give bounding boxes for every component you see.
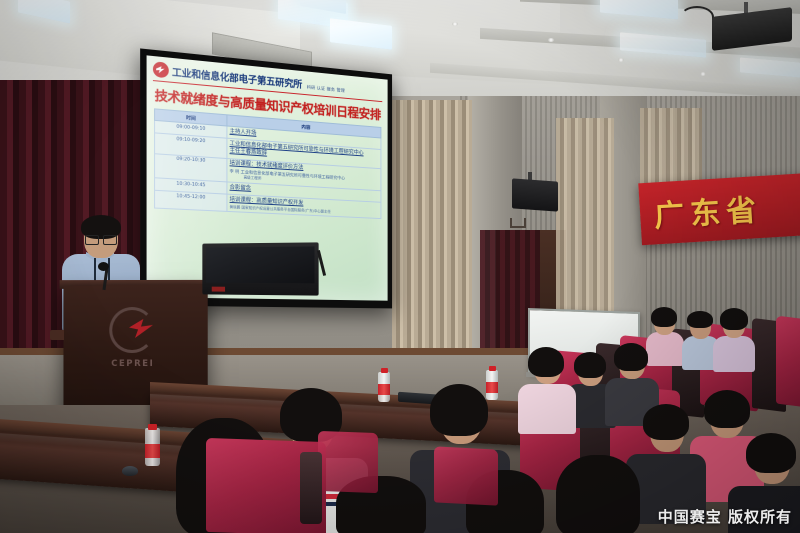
ceiling-downlight <box>452 22 458 26</box>
cell-time: 10:45-12:00 <box>155 190 227 211</box>
bottle-cap <box>148 424 157 430</box>
ceprei-circle <box>109 307 155 353</box>
monitor-indicator <box>212 287 225 292</box>
attendee-hair <box>430 384 488 436</box>
presenter-glasses <box>85 235 117 243</box>
attendee-hair <box>704 390 750 428</box>
attendee-hair <box>643 404 689 440</box>
slide-org-sub: 科研 认证 服务 管理 <box>307 84 345 94</box>
seat-armrest <box>300 452 322 524</box>
attendee <box>684 314 716 362</box>
attendee-hair <box>614 343 648 371</box>
attendee <box>556 455 640 533</box>
mii-logo-icon <box>153 61 169 78</box>
auditorium-seat <box>434 446 498 505</box>
water-bottle <box>378 368 390 402</box>
bottle-cap <box>489 366 496 371</box>
computer-mouse[interactable] <box>122 466 138 476</box>
attendee <box>636 410 694 502</box>
wall-speaker <box>512 178 558 211</box>
banner-text: 广东省 <box>653 185 763 236</box>
window-curtain <box>556 118 614 318</box>
red-banner: 广东省 <box>638 173 800 246</box>
projector-cable <box>680 6 714 28</box>
attendee-hair <box>556 455 640 533</box>
attendee <box>648 310 680 358</box>
attendee-body <box>713 336 755 372</box>
podium-monitor <box>202 242 318 295</box>
attendee <box>524 352 568 418</box>
auditorium-seat <box>776 316 800 409</box>
window-curtain <box>392 100 472 350</box>
attendee-hair <box>746 433 796 473</box>
ceiling-downlight <box>548 38 554 42</box>
podium-side-panel <box>50 330 64 340</box>
bottle-label <box>378 384 390 395</box>
attendee-hair <box>687 311 713 328</box>
ceiling-downlight <box>618 58 624 62</box>
attendee-hair <box>720 308 748 330</box>
bottle-label <box>145 444 160 458</box>
ceprei-logo-text: CEPREI <box>111 359 154 369</box>
attendee-hair <box>528 347 564 377</box>
attendee <box>610 348 652 412</box>
ceprei-logo-icon: CEPREI <box>109 307 161 359</box>
attendee <box>570 356 610 416</box>
bottle-cap <box>381 368 388 373</box>
watermark: 中国赛宝 版权所有 <box>658 506 792 527</box>
ceiling-projector <box>712 7 792 51</box>
ceiling-light-panel <box>600 0 678 19</box>
attendee-hair <box>574 352 606 378</box>
monitor-screen <box>206 246 314 283</box>
auditorium-seat <box>318 431 378 493</box>
slide-schedule-table: 时间 内容 09:00-09:10 主持人开场 09:10-09:20 <box>154 108 381 219</box>
ceiling-light-panel <box>620 32 706 58</box>
attendee <box>716 312 750 362</box>
water-bottle <box>145 424 160 466</box>
ceiling-light-panel <box>740 57 800 77</box>
attendee-hair <box>651 307 677 327</box>
attendee-body <box>518 384 576 434</box>
podium-microphone <box>98 262 109 271</box>
ceiling-downlight <box>700 72 706 76</box>
wall-bracket <box>510 218 526 228</box>
conference-room-photo: 广东省 工业和信息化部电子第五研究所 科研 认证 服务 管理 技术就绪度与高质量… <box>0 0 800 533</box>
